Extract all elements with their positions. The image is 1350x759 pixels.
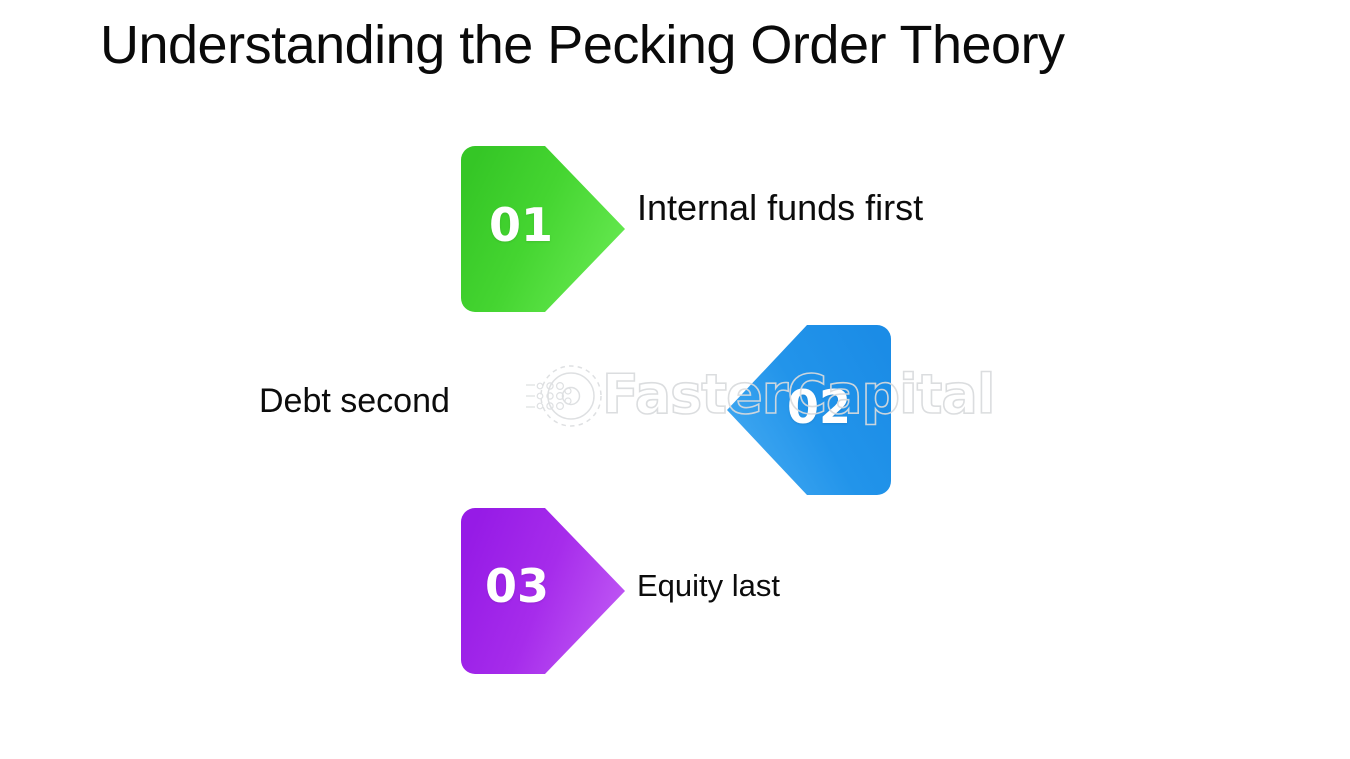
arrow-right-purple-icon: [461, 508, 625, 674]
page-title: Understanding the Pecking Order Theory: [100, 12, 1065, 78]
step-02-label: Debt second: [259, 380, 450, 422]
slide-canvas: Understanding the Pecking Order Theory 0…: [0, 0, 1350, 759]
gear-icon: [526, 366, 601, 426]
step-03-arrow[interactable]: 03: [461, 508, 625, 674]
arrow-left-blue-icon: [727, 325, 891, 495]
step-02-arrow[interactable]: 02: [727, 325, 891, 495]
step-01-arrow[interactable]: 01: [461, 146, 625, 312]
arrow-right-green-icon: [461, 146, 625, 312]
step-01-label: Internal funds first: [637, 186, 923, 230]
step-03-label: Equity last: [637, 566, 780, 606]
